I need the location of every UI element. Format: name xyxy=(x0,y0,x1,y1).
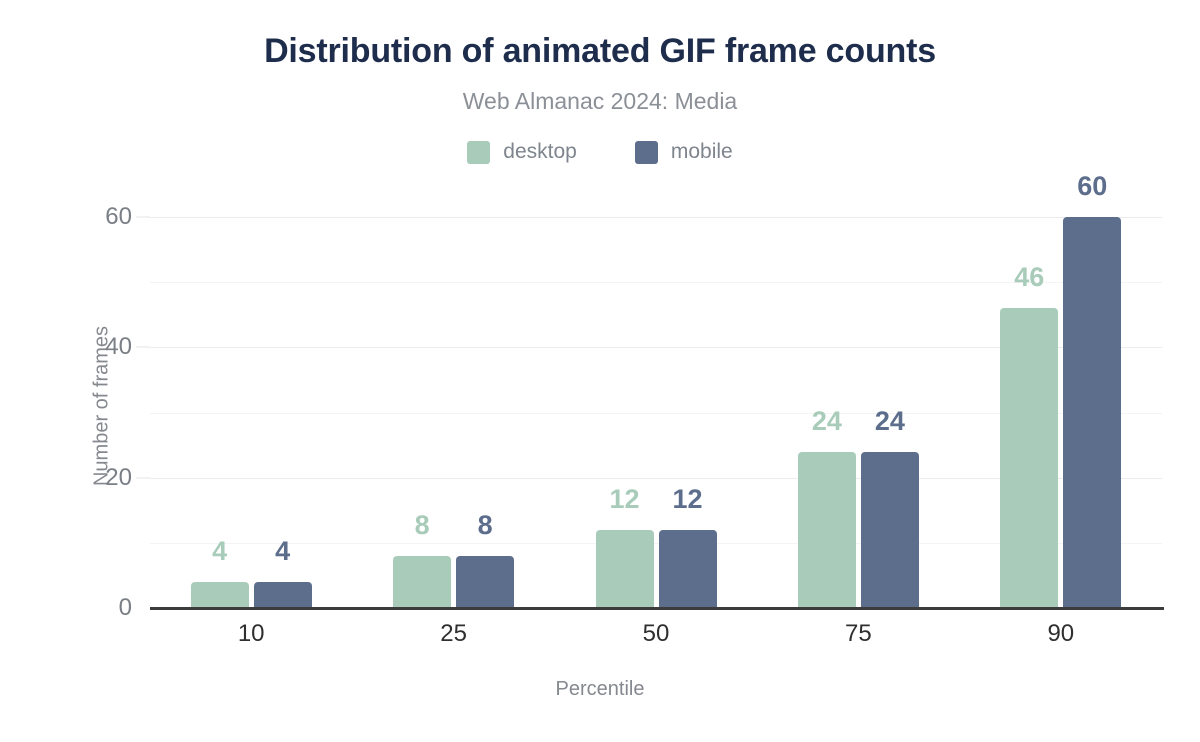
plot-area: 02040604488121224244660 xyxy=(150,204,1162,608)
y-tick-mark xyxy=(136,347,150,348)
x-tick-label-25: 25 xyxy=(440,620,467,648)
bar-mobile-50[interactable] xyxy=(659,530,717,608)
legend-item-desktop[interactable]: desktop xyxy=(467,140,577,164)
bar-value-label-mobile-50: 12 xyxy=(672,484,702,515)
bar-value-label-desktop-10: 4 xyxy=(212,536,227,567)
x-tick-label-90: 90 xyxy=(1047,620,1074,648)
bar-desktop-25[interactable] xyxy=(393,556,451,608)
bar-mobile-10[interactable] xyxy=(254,582,312,608)
gridline-minor xyxy=(150,282,1162,283)
x-tick-label-75: 75 xyxy=(845,620,872,648)
x-axis-title: Percentile xyxy=(0,678,1200,701)
legend-swatch-desktop xyxy=(467,141,490,164)
legend-label-mobile: mobile xyxy=(671,140,733,164)
bar-mobile-25[interactable] xyxy=(456,556,514,608)
y-tick-label: 20 xyxy=(12,464,132,492)
legend-label-desktop: desktop xyxy=(503,140,577,164)
legend-item-mobile[interactable]: mobile xyxy=(635,140,733,164)
x-tick-label-10: 10 xyxy=(238,620,265,648)
y-axis-title-wrap: Number of frames xyxy=(0,204,60,608)
chart-title: Distribution of animated GIF frame count… xyxy=(0,32,1200,71)
bar-value-label-desktop-50: 12 xyxy=(609,484,639,515)
bar-value-label-mobile-25: 8 xyxy=(478,510,493,541)
chart-legend: desktop mobile xyxy=(0,140,1200,164)
legend-swatch-mobile xyxy=(635,141,658,164)
bar-desktop-90[interactable] xyxy=(1000,308,1058,608)
y-tick-mark xyxy=(136,477,150,478)
bar-mobile-90[interactable] xyxy=(1063,217,1121,608)
bar-value-label-desktop-25: 8 xyxy=(415,510,430,541)
bar-desktop-75[interactable] xyxy=(798,452,856,608)
x-tick-label-50: 50 xyxy=(643,620,670,648)
x-axis-baseline xyxy=(150,607,1164,610)
y-tick-mark xyxy=(136,217,150,218)
bar-desktop-10[interactable] xyxy=(191,582,249,608)
bar-value-label-desktop-75: 24 xyxy=(812,406,842,437)
y-tick-label: 60 xyxy=(12,203,132,231)
bar-value-label-mobile-10: 4 xyxy=(275,536,290,567)
y-tick-label: 40 xyxy=(12,333,132,361)
bar-mobile-75[interactable] xyxy=(861,452,919,608)
bar-value-label-desktop-90: 46 xyxy=(1014,262,1044,293)
chart-container: Distribution of animated GIF frame count… xyxy=(0,0,1200,742)
chart-subtitle: Web Almanac 2024: Media xyxy=(0,88,1200,115)
y-tick-label: 0 xyxy=(12,594,132,622)
gridline-major xyxy=(150,217,1162,218)
bar-value-label-mobile-75: 24 xyxy=(875,406,905,437)
bar-value-label-mobile-90: 60 xyxy=(1077,171,1107,202)
bar-desktop-50[interactable] xyxy=(596,530,654,608)
